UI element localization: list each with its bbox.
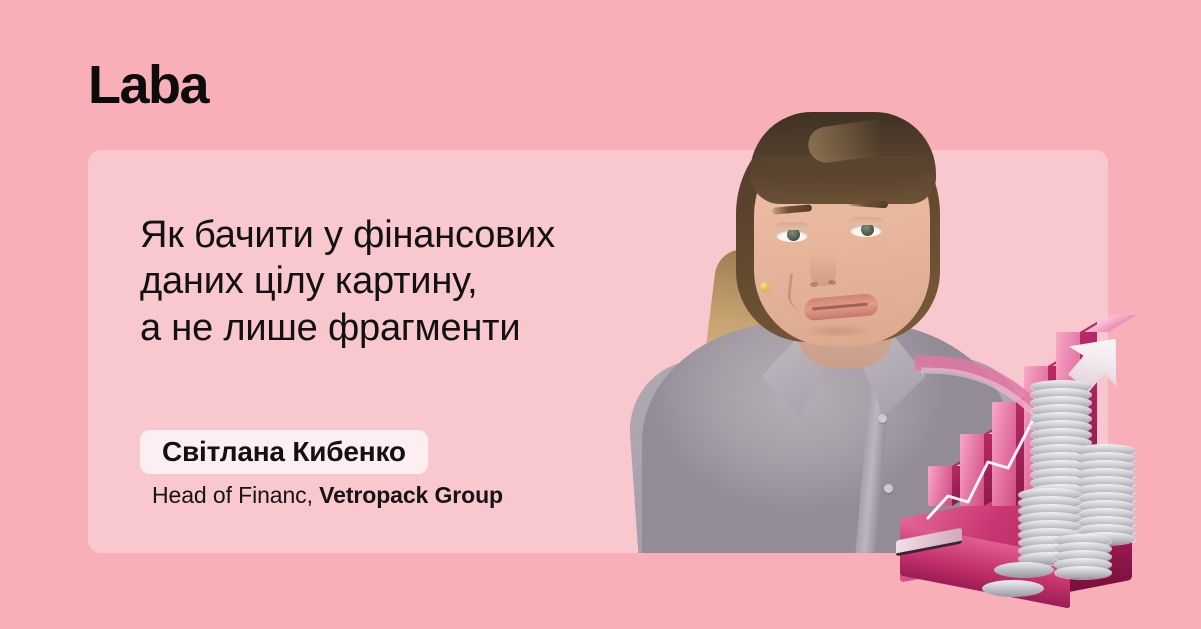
growth-chart-graphic [890, 318, 1160, 603]
eye-left [776, 228, 808, 242]
laba-logo[interactable]: Laba [88, 58, 208, 112]
promo-banner: Laba Як бачити у фінансових даних цілу к… [0, 0, 1201, 629]
speaker-role-line: Head of Financ, Vetropack Group [152, 482, 503, 509]
eye-right [850, 223, 882, 237]
nostril-left [810, 282, 818, 287]
loose-coin-1 [994, 562, 1054, 578]
nostril-right [828, 280, 836, 285]
shirt-button-top [878, 414, 887, 423]
speaker-company: Vetropack Group [319, 482, 503, 508]
eyelid-right [848, 217, 884, 225]
chin-shadow [802, 324, 874, 338]
speaker-role: Head of Financ, [152, 482, 319, 508]
earring [760, 282, 770, 292]
speaker-name-badge: Світлана Кибенко [140, 430, 428, 474]
eyelid-left [774, 222, 810, 230]
coin-stacks [1008, 380, 1158, 580]
loose-coin-2 [982, 580, 1044, 597]
speaker-name: Світлана Кибенко [162, 436, 406, 468]
